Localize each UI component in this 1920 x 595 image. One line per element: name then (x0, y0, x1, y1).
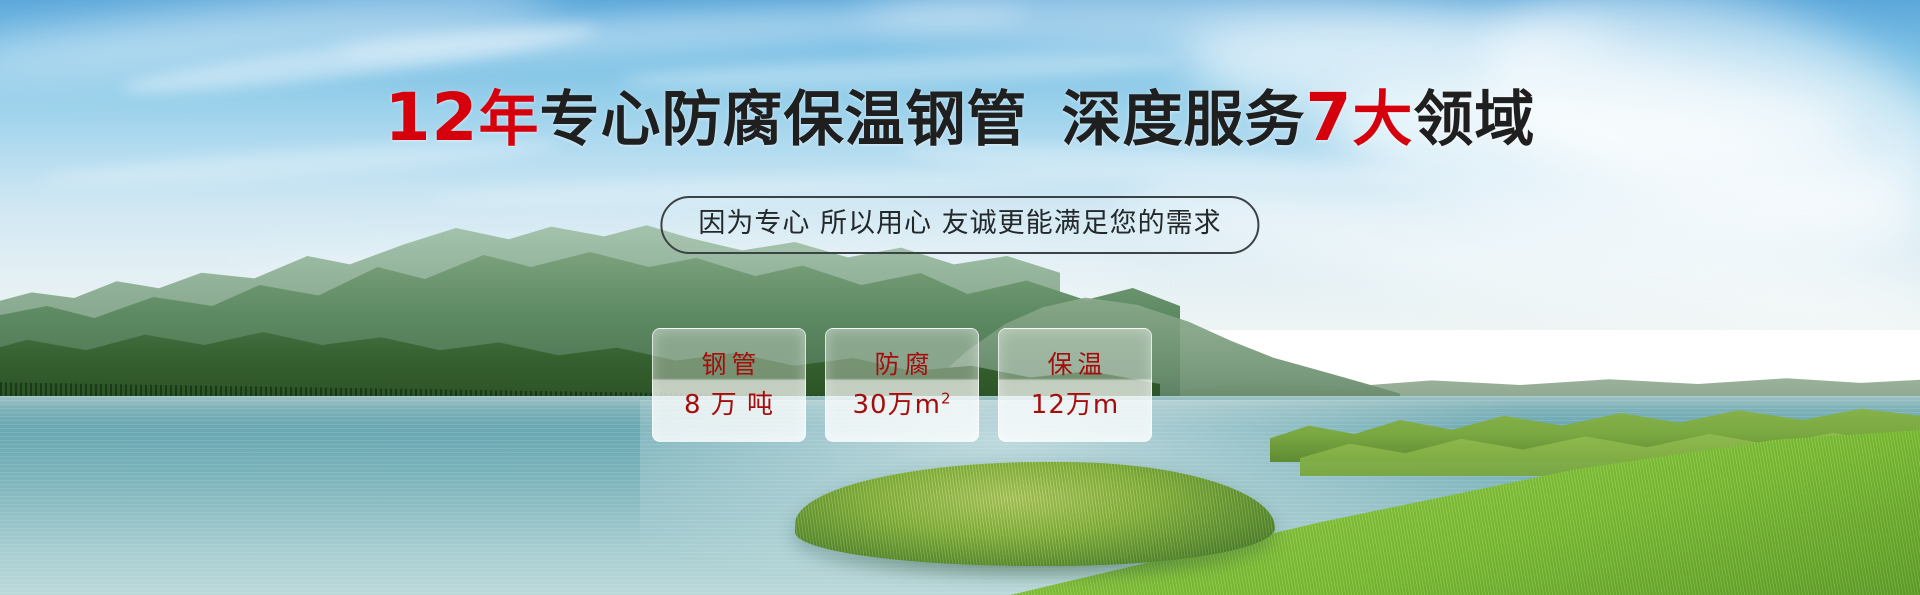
stat-card-group: 钢管 8 万 吨 防腐 30万m2 保温 12万m (652, 328, 1152, 442)
stat-card-value-superscript: 2 (941, 389, 952, 407)
stat-card-value-text: 12万m (1031, 390, 1119, 420)
hero-banner: 12年专心防腐保温钢管深度服务7大领域 因为专心 所以用心 友诚更能满足您的需求… (0, 0, 1920, 595)
stat-card-insulation[interactable]: 保温 12万m (998, 328, 1152, 442)
subtitle-pill: 因为专心 所以用心 友诚更能满足您的需求 (660, 196, 1259, 254)
stat-card-title: 防腐 (869, 350, 934, 380)
stat-card-value: 12万m (1031, 390, 1119, 420)
stat-card-title: 保温 (1042, 350, 1107, 380)
stat-card-title: 钢管 (696, 350, 761, 380)
stat-card-value: 8 万 吨 (684, 390, 774, 420)
stat-card-steel-pipe[interactable]: 钢管 8 万 吨 (652, 328, 806, 442)
headline-fields-number: 7 (1305, 79, 1352, 156)
headline-fields-unit: 大 (1352, 85, 1413, 155)
stat-card-value-text: 30万m (853, 390, 941, 420)
headline-service-text: 深度服务 (1061, 85, 1305, 155)
headline-main-text: 专心防腐保温钢管 (539, 85, 1027, 155)
stat-card-value-text: 8 万 吨 (684, 390, 774, 420)
headline-years-unit: 年 (478, 85, 539, 155)
stat-card-anticorrosion[interactable]: 防腐 30万m2 (825, 328, 979, 442)
headline: 12年专心防腐保温钢管深度服务7大领域 (0, 88, 1920, 150)
headline-years-number: 12 (385, 79, 479, 156)
stat-card-value: 30万m2 (853, 390, 952, 420)
headline-fields-text: 领域 (1413, 85, 1535, 155)
